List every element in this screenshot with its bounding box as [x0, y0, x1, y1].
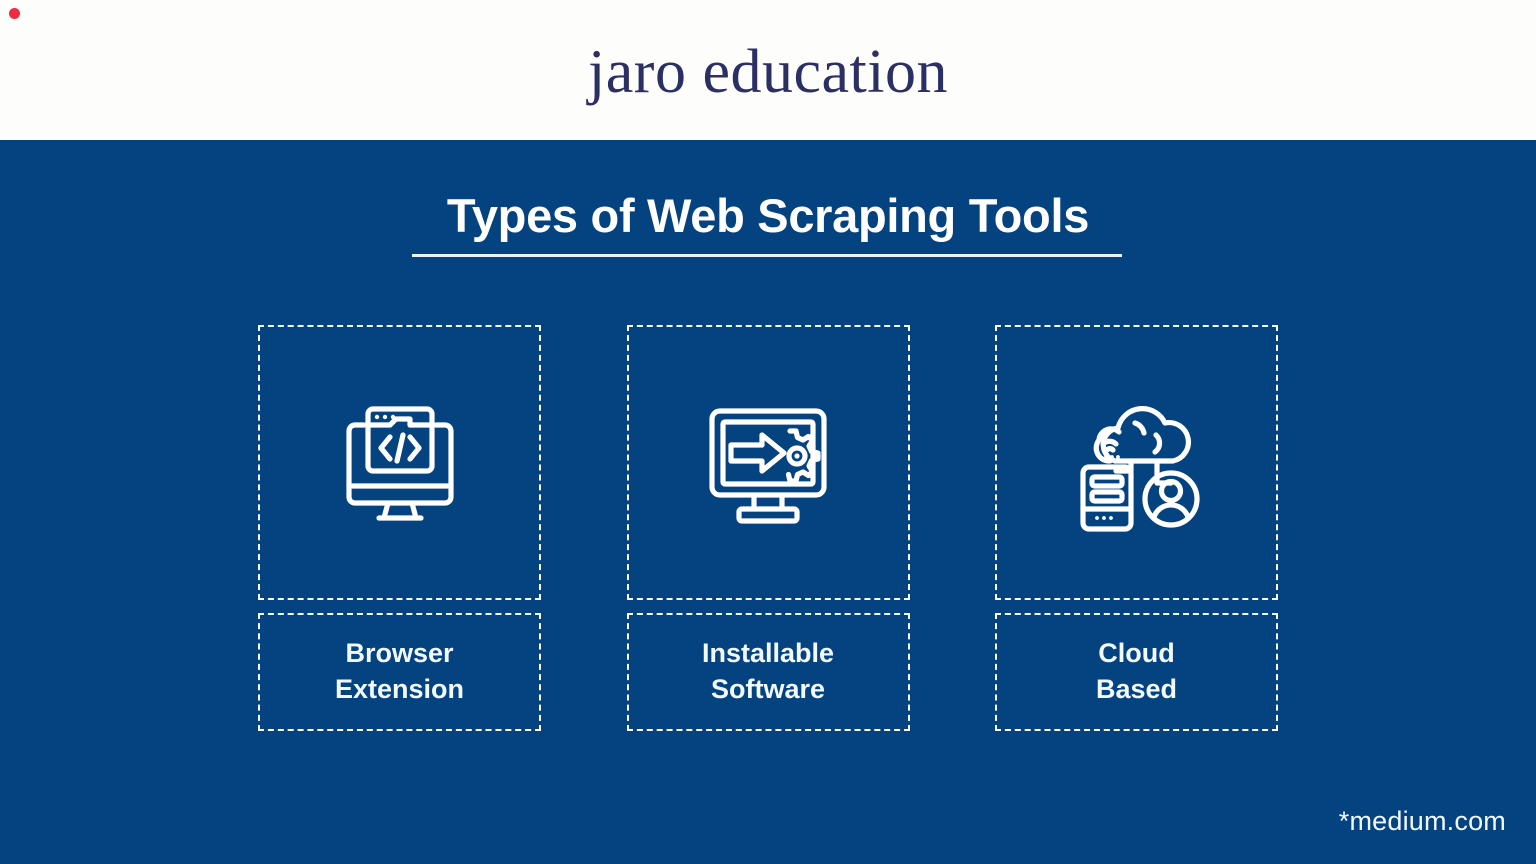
brand-logo-text: jaro education: [588, 37, 948, 103]
label-box-browser-extension: Browser Extension: [258, 613, 541, 731]
header-band: jaro education: [0, 0, 1536, 140]
page-title: Types of Web Scraping Tools: [0, 190, 1536, 242]
card-browser-extension: Browser Extension: [258, 325, 541, 731]
infographic-canvas: jaro education Types of Web Scraping Too…: [0, 0, 1536, 864]
icon-box-installable-software: [627, 325, 910, 600]
card-label: Installable Software: [702, 636, 834, 707]
label-box-installable-software: Installable Software: [627, 613, 910, 731]
logo-red-dot-icon: [9, 8, 20, 19]
card-label: Cloud Based: [1096, 636, 1177, 707]
monitor-arrow-gear-install-icon: [692, 387, 844, 539]
source-attribution: *medium.com: [1339, 806, 1506, 837]
card-label: Browser Extension: [335, 636, 464, 707]
browser-code-monitor-icon: [324, 387, 476, 539]
title-block: Types of Web Scraping Tools: [0, 190, 1536, 242]
card-cloud-based: Cloud Based: [995, 325, 1278, 731]
cloud-server-user-icon: [1061, 387, 1213, 539]
label-box-cloud-based: Cloud Based: [995, 613, 1278, 731]
icon-box-browser-extension: [258, 325, 541, 600]
cards-row: Browser Extension: [258, 325, 1278, 731]
card-installable-software: Installable Software: [627, 325, 910, 731]
brand-logo: jaro education: [0, 0, 1536, 140]
title-underline: [412, 254, 1122, 257]
icon-box-cloud-based: [995, 325, 1278, 600]
